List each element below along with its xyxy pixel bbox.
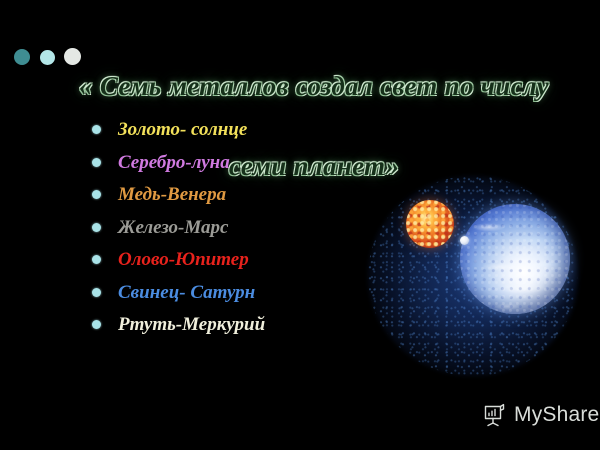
list-item: Железо-Марс: [92, 212, 392, 245]
list-item-label: Ртуть-Меркурий: [118, 315, 265, 335]
list-item: Золото- солнце: [92, 114, 392, 147]
list-item-label: Свинец- Сатурн: [118, 283, 255, 303]
blue-white-planet-icon: [460, 204, 570, 314]
list-item: Серебро-луна: [92, 147, 392, 180]
small-moon-icon: [460, 236, 469, 245]
bullet-dot-icon: [92, 125, 101, 134]
list-item-label: Медь-Венера: [118, 185, 226, 205]
bullet-dot-icon: [92, 190, 101, 199]
deco-dot-teal: [14, 49, 30, 65]
bullet-dot-icon: [92, 223, 101, 232]
list-item-label: Олово-Юпитер: [118, 250, 249, 270]
list-item: Свинец- Сатурн: [92, 277, 392, 310]
list-item: Ртуть-Меркурий: [92, 309, 392, 342]
bullet-dot-icon: [92, 320, 101, 329]
deco-dot-cyan: [40, 50, 55, 65]
slide-title-line-1: « Семь металлов создал свет по числу: [58, 66, 570, 106]
bullet-dot-icon: [92, 288, 101, 297]
slide-canvas: « Семь металлов создал свет по числу сем…: [0, 0, 600, 450]
list-item: Медь-Венера: [92, 179, 392, 212]
bullet-dot-icon: [92, 255, 101, 264]
list-item-label: Железо-Марс: [118, 218, 228, 238]
bullet-dot-icon: [92, 158, 101, 167]
list-item-label: Золото- солнце: [118, 120, 247, 140]
orange-planet-icon: [406, 200, 454, 248]
presentation-chart-icon: [481, 402, 507, 428]
list-item: Олово-Юпитер: [92, 244, 392, 277]
list-item-label: Серебро-луна: [118, 153, 230, 173]
metals-planets-list: Золото- солнце Серебро-луна Медь-Венера …: [92, 114, 392, 342]
myshared-watermark[interactable]: MyShared: [481, 402, 600, 428]
space-illustration: [362, 172, 600, 380]
myshared-label: MyShared: [514, 404, 600, 426]
